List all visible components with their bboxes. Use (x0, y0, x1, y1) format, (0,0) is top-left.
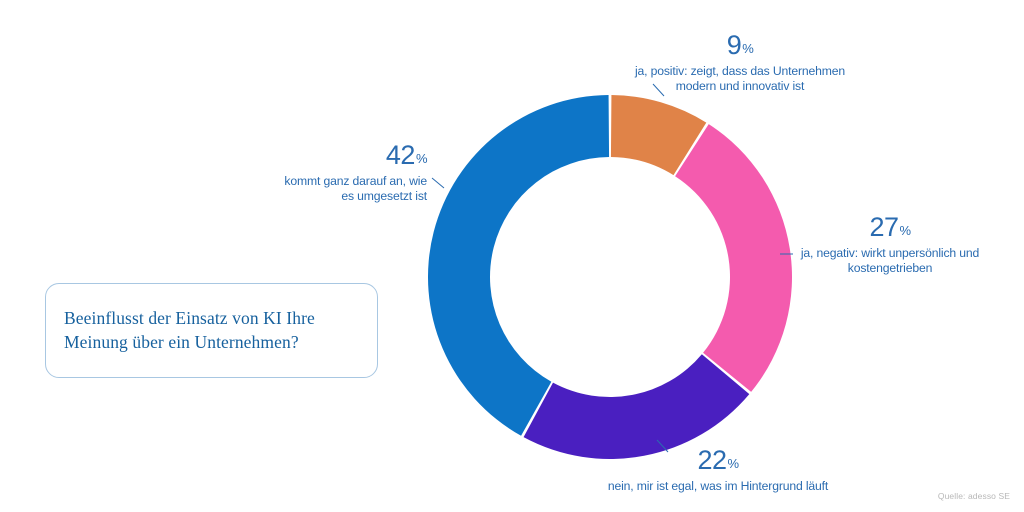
callout-negativ-line-2: kostengetrieben (790, 261, 990, 277)
callout-kommt: 42% kommt ganz darauf an, wie es umgeset… (282, 138, 427, 205)
callout-positiv-line-2: modern und innovativ ist (620, 79, 860, 95)
callout-negativ: 27% ja, negativ: wirkt unpersönlich und … (790, 210, 990, 277)
source-note: Quelle: adesso SE (938, 491, 1010, 501)
leader-line-kommt (432, 178, 444, 188)
callout-kommt-value: 42 (386, 138, 415, 173)
callout-nein: 22% nein, mir ist egal, was im Hintergru… (568, 443, 868, 494)
callout-nein-value: 22 (697, 443, 726, 478)
callout-kommt-line-1: kommt ganz darauf an, wie (282, 174, 427, 190)
callout-positiv: 9% ja, positiv: zeigt, dass das Unterneh… (620, 28, 860, 95)
callout-kommt-value-row: 42% (282, 138, 427, 173)
callout-kommt-unit: % (416, 151, 427, 168)
callout-negativ-unit: % (899, 223, 910, 240)
callout-positiv-unit: % (742, 41, 753, 58)
callout-nein-value-row: 22% (568, 443, 868, 478)
callout-nein-line-1: nein, mir ist egal, was im Hintergrund l… (568, 479, 868, 495)
callout-positiv-value-row: 9% (620, 28, 860, 63)
callout-nein-unit: % (727, 456, 738, 473)
callout-negativ-value-row: 27% (790, 210, 990, 245)
callout-positiv-line-1: ja, positiv: zeigt, dass das Unternehmen (620, 64, 860, 80)
infographic-canvas: Beeinflusst der Einsatz von KI Ihre Mein… (0, 0, 1024, 512)
callout-negativ-value: 27 (869, 210, 898, 245)
callout-negativ-line-1: ja, negativ: wirkt unpersönlich und (790, 246, 990, 262)
callout-positiv-value: 9 (727, 28, 742, 63)
callout-kommt-line-2: es umgesetzt ist (282, 189, 427, 205)
